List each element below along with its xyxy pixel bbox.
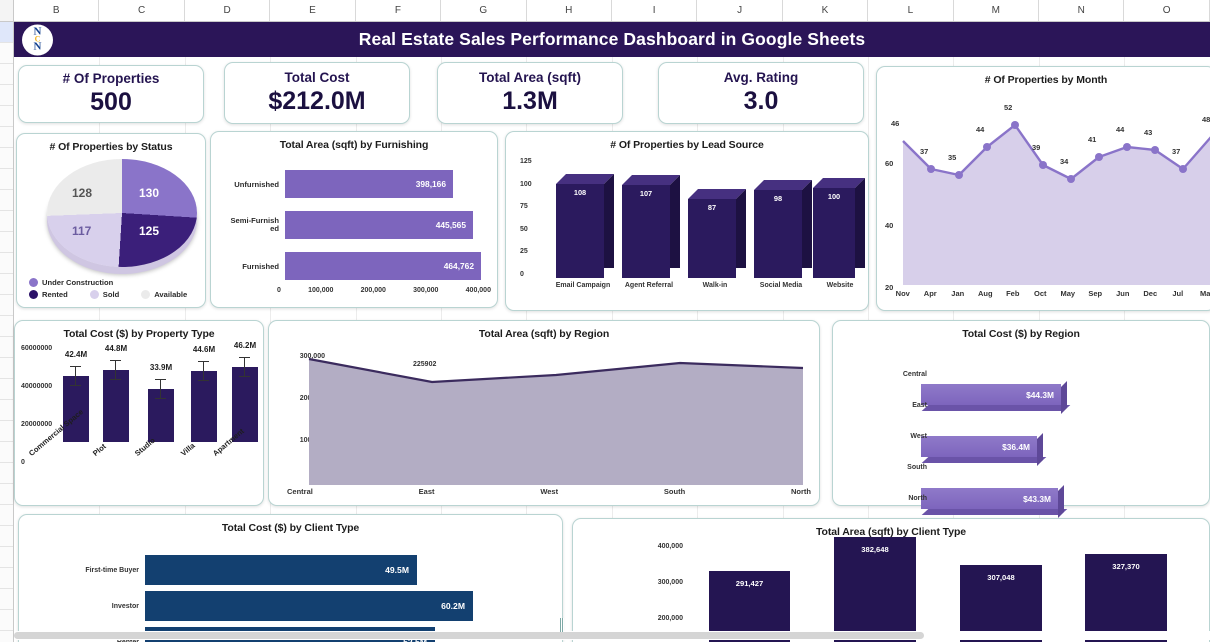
bar-category-label: North: [879, 495, 927, 502]
column-front-face: [622, 185, 670, 278]
row-header[interactable]: [0, 169, 13, 190]
bar-category-label: Central: [879, 371, 927, 378]
y-tick: 400,000: [623, 543, 683, 550]
x-label: Jan: [944, 289, 972, 298]
column-value-label: 107: [622, 189, 670, 198]
error-bar: [75, 366, 76, 386]
error-cap: [155, 398, 166, 399]
bar-bottom-face: [922, 509, 1068, 515]
bar-value-label: 398,166: [416, 179, 453, 189]
pie-label-rented: 125: [139, 224, 159, 238]
point-label: 37: [1172, 147, 1180, 156]
x-label: Dec: [1137, 289, 1165, 298]
bar-category-label: First-time Buyer: [39, 567, 139, 574]
bar-plot[interactable]: 44.8M: [103, 370, 129, 442]
column-header[interactable]: H: [527, 0, 612, 21]
chart-title: Total Cost ($) by Property Type: [15, 321, 263, 340]
point-label: 52: [1004, 103, 1012, 112]
x-label: Jul: [1164, 289, 1192, 298]
x-label: Studio: [133, 436, 157, 458]
point-label: 39: [1032, 143, 1040, 152]
bar-west[interactable]: $43.3M: [921, 488, 1058, 509]
bar-category-label: Unfurnished: [221, 180, 279, 189]
column-header[interactable]: F: [356, 0, 441, 21]
horizontal-scrollbar[interactable]: [14, 631, 1210, 640]
bar-furnished[interactable]: 464,762: [285, 252, 481, 280]
x-label: Feb: [999, 289, 1027, 298]
bar-side-face: [1061, 381, 1067, 414]
y-tick: 75: [520, 203, 532, 210]
row-header[interactable]: [0, 484, 13, 505]
dashboard-banner: N C N Real Estate Sales Performance Dash…: [14, 22, 1210, 57]
column-header[interactable]: G: [441, 0, 526, 21]
x-tick: 400,000: [466, 287, 491, 294]
chart-area-by-client-type: Total Area (sqft) by Client Type 400,000…: [572, 518, 1210, 642]
chart-cost-by-client-type: Total Cost ($) by Client Type First-time…: [18, 514, 563, 642]
chart-properties-by-status: # Of Properties by Status 130 125 117 12…: [16, 133, 206, 308]
row-header[interactable]: [0, 337, 13, 358]
row-header[interactable]: [0, 106, 13, 127]
x-label: Website: [814, 282, 866, 290]
error-cap: [155, 379, 166, 380]
row-header[interactable]: [0, 22, 13, 43]
column-agent-referral[interactable]: 107: [622, 175, 680, 278]
area-fill: [903, 125, 1210, 285]
row-header[interactable]: [0, 442, 13, 463]
kpi-value: 1.3M: [502, 87, 558, 116]
chart-title: Total Area (sqft) by Region: [269, 321, 819, 340]
column-side-face: [604, 174, 614, 268]
legend-swatch-icon: [141, 290, 150, 299]
row-header[interactable]: [0, 211, 13, 232]
x-label: Plot: [91, 442, 108, 458]
x-label: Villa: [179, 441, 197, 458]
bar-value-label: 464,762: [444, 261, 481, 271]
error-cap: [239, 376, 250, 377]
bar-investor[interactable]: 60.2M: [145, 591, 473, 621]
column-header[interactable]: M: [954, 0, 1039, 21]
bar-row: Semi-Furnish ed 445,565: [221, 211, 489, 239]
column-header[interactable]: L: [868, 0, 953, 21]
row-header[interactable]: [0, 43, 13, 64]
bar-value-label: $44.3M: [1026, 390, 1054, 400]
bar-studio[interactable]: 33.9M: [148, 389, 174, 442]
kpi-value: 3.0: [744, 87, 779, 116]
bar-value-label: 49.5M: [385, 565, 417, 575]
x-label: Apr: [917, 289, 945, 298]
bar-category-label: Investor: [39, 603, 139, 610]
pie-slices: [47, 159, 197, 267]
x-axis-labels: Central East West South North: [287, 487, 811, 496]
column-header[interactable]: C: [99, 0, 184, 21]
x-label: Aug: [972, 289, 1000, 298]
bar-bottom-face: [922, 457, 1047, 463]
column-value-label: 108: [556, 188, 604, 197]
column-header[interactable]: E: [270, 0, 355, 21]
column-value-label: 87: [688, 203, 736, 212]
bar-side-face: [1037, 433, 1043, 466]
bar-category-label: Semi-Furnish ed: [221, 217, 279, 233]
x-label: Sep: [1082, 289, 1110, 298]
bar-value-label: 33.9M: [136, 363, 186, 372]
x-axis-ticks: 0 100,000 200,000 300,000 400,000: [277, 287, 491, 294]
y-tick: 125: [520, 158, 532, 165]
pie-legend: Under Construction Rented Sold Available: [29, 278, 209, 299]
row-header[interactable]: [0, 526, 13, 547]
x-label: Oct: [1027, 289, 1055, 298]
select-all-corner[interactable]: [0, 0, 14, 21]
spreadsheet-dashboard: B C D E F G H I J K L M N O N C N Real E…: [0, 0, 1210, 642]
point-label: 41: [1088, 135, 1096, 144]
column-top-face: [622, 175, 680, 185]
row-header[interactable]: [0, 274, 13, 295]
kpi-label: # Of Properties: [63, 71, 160, 86]
data-annotation: 225902: [413, 361, 436, 368]
resize-grip[interactable]: [560, 618, 564, 632]
legend-swatch-icon: [29, 278, 38, 287]
chart-area-by-region: Total Area (sqft) by Region 300,000 200,…: [268, 320, 820, 506]
pie-label-sold: 117: [72, 224, 91, 238]
legend-label: Available: [154, 290, 187, 299]
kpi-card-total-cost: Total Cost $212.0M: [224, 62, 410, 124]
row-header[interactable]: [0, 400, 13, 421]
x-label: West: [540, 487, 558, 496]
kpi-value: 500: [90, 88, 132, 117]
y-tick: 200,000: [623, 615, 683, 622]
x-tick: 0: [277, 287, 281, 294]
bar-value-label: 46.2M: [220, 341, 270, 350]
column-value-label: 100: [813, 192, 855, 201]
column-header[interactable]: I: [612, 0, 697, 21]
row-header[interactable]: [0, 127, 13, 148]
row-header[interactable]: [0, 295, 13, 316]
y-tick: 40000000: [21, 383, 65, 390]
x-label: Social Media: [748, 282, 814, 290]
chart-title: Total Area (sqft) by Furnishing: [211, 132, 497, 151]
x-tick: 200,000: [361, 287, 386, 294]
pie-label-under-construction: 130: [139, 186, 159, 200]
bar-villa[interactable]: 44.6M: [191, 371, 217, 442]
column-header[interactable]: J: [697, 0, 782, 21]
y-tick: 0: [520, 271, 532, 278]
y-tick: 60: [885, 159, 893, 168]
column-header[interactable]: K: [783, 0, 868, 21]
pie-label-available: 128: [72, 186, 92, 200]
column-value-label: 327,370: [1085, 562, 1167, 571]
legend-swatch-icon: [90, 290, 99, 299]
error-cap: [70, 385, 81, 386]
bar-category-label: South: [879, 464, 927, 471]
logo-letter-bottom: N: [34, 43, 42, 52]
point-label: 35: [948, 153, 956, 162]
error-cap: [198, 380, 209, 381]
x-axis-labels: Nov Apr Jan Aug Feb Oct May Sep Jun Dec …: [889, 289, 1210, 298]
point-label: 44: [976, 125, 984, 134]
y-tick: 300,000: [623, 579, 683, 586]
spreadsheet-row-gutter[interactable]: [0, 22, 14, 642]
x-label: Jun: [1109, 289, 1137, 298]
y-axis-ticks: 125 100 75 50 25 0: [520, 158, 532, 278]
dashboard-title: Real Estate Sales Performance Dashboard …: [14, 29, 1210, 50]
column-top-face: [556, 174, 614, 184]
scrollbar-thumb[interactable]: [14, 632, 924, 639]
x-label: South: [664, 487, 685, 496]
bar-value-label: 445,565: [436, 220, 473, 230]
bar-value-label: $36.4M: [1002, 442, 1030, 452]
bar-category-label: Furnished: [221, 262, 279, 271]
chart-properties-by-month: # Of Properties by Month 60 40 20 0 46 3…: [876, 66, 1210, 311]
row-header[interactable]: [0, 463, 13, 484]
column-side-face: [736, 189, 746, 268]
row-header[interactable]: [0, 358, 13, 379]
kpi-label: Avg. Rating: [724, 70, 799, 85]
kpi-card-properties: # Of Properties 500: [18, 65, 204, 123]
bar-value-label: $43.3M: [1023, 494, 1051, 504]
bar-bottom-face: [922, 405, 1071, 411]
x-tick: 100,000: [308, 287, 333, 294]
column-front-face: [813, 188, 855, 278]
column-email-campaign[interactable]: 108: [556, 174, 614, 278]
column-top-face: [688, 189, 746, 199]
bar-unfurnished[interactable]: 398,166: [285, 170, 453, 198]
point-label: 48: [1202, 115, 1210, 124]
error-bar: [115, 360, 116, 380]
month-area-plot: [897, 97, 1210, 285]
error-cap: [110, 379, 121, 380]
point-label: 43: [1144, 128, 1152, 137]
legend-row: Rented Sold Available: [29, 290, 209, 299]
chart-title: Total Cost ($) by Client Type: [19, 515, 562, 534]
kpi-value: $212.0M: [268, 87, 365, 116]
row-header[interactable]: [0, 610, 13, 631]
row-header[interactable]: [0, 316, 13, 337]
column-header[interactable]: N: [1039, 0, 1124, 21]
legend-item-under-construction[interactable]: Under Construction: [29, 278, 209, 287]
y-tick: 40: [885, 221, 893, 230]
x-label: Central: [287, 487, 313, 496]
point-label: 37: [920, 147, 928, 156]
column-header[interactable]: O: [1124, 0, 1209, 21]
row-header[interactable]: [0, 232, 13, 253]
legend-label: Rented: [42, 290, 68, 299]
chart-area-by-furnishing: Total Area (sqft) by Furnishing Unfurnis…: [210, 131, 498, 308]
kpi-label: Total Area (sqft): [479, 70, 581, 85]
x-label: Walk-in: [682, 282, 748, 290]
column-side-face: [802, 180, 812, 268]
x-label: Ma: [1192, 289, 1210, 298]
column-social-media[interactable]: 98: [754, 180, 812, 278]
x-axis-labels: Email Campaign Agent Referral Walk-in So…: [550, 282, 866, 290]
bar-first-time-buyer[interactable]: 49.5M: [145, 555, 417, 585]
point-label: 46: [891, 119, 899, 128]
chart-cost-by-region: Total Cost ($) by Region Central $44.3M …: [832, 320, 1210, 506]
chart-title: Total Cost ($) by Region: [833, 321, 1209, 340]
area-fill: [309, 359, 803, 485]
x-label: Agent Referral: [616, 282, 682, 290]
column-website[interactable]: 100: [813, 178, 865, 278]
bar-semi-furnished[interactable]: 445,565: [285, 211, 473, 239]
x-label: East: [419, 487, 435, 496]
column-client-2[interactable]: 382,648: [834, 537, 916, 642]
x-label: Nov: [889, 289, 917, 298]
bar-east[interactable]: $36.4M: [921, 436, 1037, 457]
bar-row: Furnished 464,762: [221, 252, 489, 280]
point-label: 34: [1060, 157, 1068, 166]
column-walk-in[interactable]: 87: [688, 189, 746, 278]
row-header[interactable]: [0, 148, 13, 169]
y-tick: 100: [520, 181, 532, 188]
row-header[interactable]: [0, 64, 13, 85]
y-tick: 0: [21, 459, 65, 466]
error-bar: [244, 357, 245, 377]
legend-label: Under Construction: [42, 278, 113, 287]
y-tick: 50: [520, 226, 532, 233]
bar-category-label: West: [879, 433, 927, 440]
column-side-face: [670, 175, 680, 268]
bar-category-label: East: [879, 402, 927, 409]
error-bar: [160, 379, 161, 399]
column-top-face: [754, 180, 812, 190]
column-value-label: 291,427: [709, 579, 790, 588]
row-header[interactable]: [0, 547, 13, 568]
row-header[interactable]: [0, 190, 13, 211]
error-cap: [110, 360, 121, 361]
column-value-label: 307,048: [960, 573, 1042, 582]
chart-cost-by-property-type: Total Cost ($) by Property Type 60000000…: [14, 320, 264, 506]
column-header[interactable]: B: [14, 0, 99, 21]
row-header[interactable]: [0, 85, 13, 106]
region-area-plot: [307, 351, 805, 485]
spreadsheet-column-headers: B C D E F G H I J K L M N O: [0, 0, 1210, 22]
column-client-4[interactable]: 327,370: [1085, 554, 1167, 642]
column-value-label: 98: [754, 194, 802, 203]
x-tick: 300,000: [413, 287, 438, 294]
y-tick: 25: [520, 248, 532, 255]
column-value-label: 382,648: [834, 545, 916, 554]
column-header[interactable]: D: [185, 0, 270, 21]
column-front-face: [556, 184, 604, 278]
chart-title: Total Area (sqft) by Client Type: [573, 519, 1209, 538]
bar-value-label: 60.2M: [441, 601, 473, 611]
point-label: 44: [1116, 125, 1124, 134]
bar-central[interactable]: $44.3M: [921, 384, 1061, 405]
error-cap: [239, 357, 250, 358]
error-cap: [70, 366, 81, 367]
chart-title: # Of Properties by Lead Source: [506, 132, 868, 151]
kpi-card-total-area: Total Area (sqft) 1.3M: [437, 62, 623, 124]
row-header[interactable]: [0, 568, 13, 589]
error-cap: [198, 361, 209, 362]
bar-value-label: 44.8M: [91, 344, 141, 353]
chart-properties-by-lead-source: # Of Properties by Lead Source 125 100 7…: [505, 131, 869, 311]
bar-row: Unfurnished 398,166: [221, 170, 489, 198]
chart-title: # Of Properties by Month: [877, 67, 1210, 86]
pie-plot-area: 130 125 117 128: [47, 159, 197, 269]
kpi-label: Total Cost: [285, 70, 350, 85]
kpi-card-avg-rating: Avg. Rating 3.0: [658, 62, 864, 124]
legend-swatch-icon: [29, 290, 38, 299]
x-label: May: [1054, 289, 1082, 298]
row-header[interactable]: [0, 253, 13, 274]
row-header[interactable]: [0, 421, 13, 442]
row-header[interactable]: [0, 589, 13, 610]
x-label: North: [791, 487, 811, 496]
error-bar: [203, 361, 204, 381]
column-side-face: [855, 178, 865, 268]
row-header[interactable]: [0, 631, 13, 642]
legend-label: Sold: [103, 290, 119, 299]
x-label: Email Campaign: [550, 282, 616, 290]
row-header[interactable]: [0, 505, 13, 526]
company-logo-icon: N C N: [22, 24, 53, 55]
column-front-face: [754, 190, 802, 278]
row-header[interactable]: [0, 379, 13, 400]
chart-title: # Of Properties by Status: [17, 134, 205, 153]
